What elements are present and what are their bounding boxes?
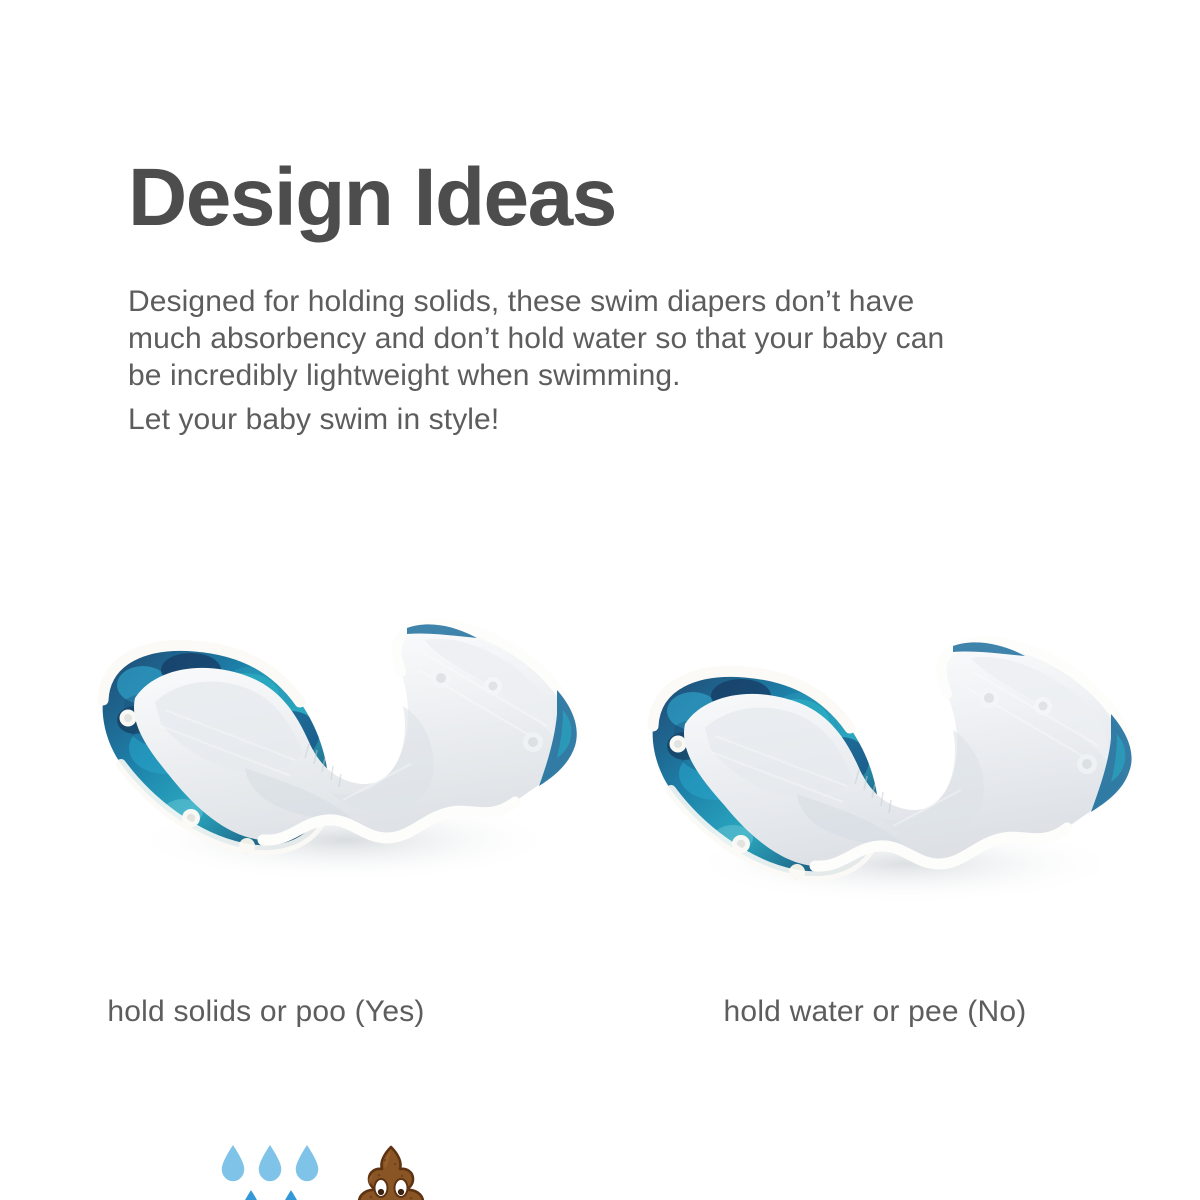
poop-emoji-icon [345,1142,437,1200]
description-block: Designed for holding solids, these swim … [128,283,1128,438]
description-line: much absorbency and don’t hold water so … [128,320,1128,357]
swim-diaper-image-left [95,550,595,900]
description-line: be incredibly lightweight when swimming. [128,357,1128,394]
swim-diaper-image-right [635,548,1175,903]
page-title: Design Ideas [128,155,616,241]
caption-yes: hold solids or poo (Yes) [0,995,600,1029]
comparison-item-no: hold water or pee (No) [600,490,1200,1050]
description-tagline: Let your baby swim in style! [128,401,1128,438]
design-ideas-infographic: Design Ideas Designed for holding solids… [0,0,1200,1200]
description-line: Designed for holding solids, these swim … [128,283,1128,320]
water-drops-icon [218,1138,326,1200]
caption-no: hold water or pee (No) [600,995,1200,1029]
comparison-item-yes: hold solids or poo (Yes) [0,490,600,1050]
